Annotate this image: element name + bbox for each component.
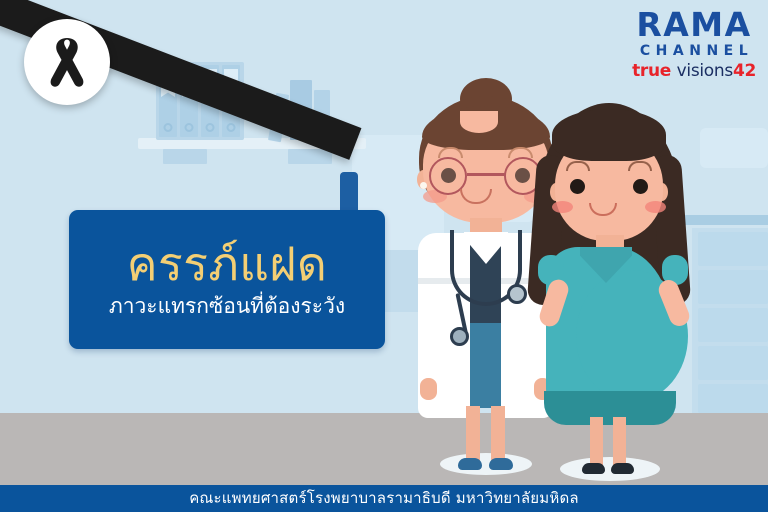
truevisions-number: 42 — [733, 61, 756, 81]
doctor-shoe-right — [489, 458, 513, 470]
logo-channel-text: CHANNEL — [632, 44, 756, 58]
doctor-floor-shadow — [440, 453, 532, 475]
footer-text: คณะแพทยศาสตร์โรงพยาบาลรามาธิบดี มหาวิทยา… — [189, 491, 579, 506]
doctor-shoe-left — [458, 458, 482, 470]
mom-floor-shadow — [560, 457, 660, 481]
cabinet-drawer — [698, 270, 768, 304]
mom-eyebrow-left — [566, 161, 590, 171]
shelf-bracket — [288, 149, 332, 164]
mom-blush-right — [645, 201, 666, 213]
mourning-ribbon-badge — [24, 19, 110, 105]
cabinet-drawer — [698, 384, 768, 413]
cabinet-drawer — [698, 346, 768, 380]
mom-fringe — [552, 109, 666, 161]
black-ribbon-icon — [44, 34, 90, 90]
truevisions-logo: true visions42 — [632, 63, 756, 80]
mom-dress-hem — [544, 391, 676, 425]
binder-ring-icon — [164, 123, 173, 132]
binder-ring-icon — [185, 123, 194, 132]
page-title: ครรภ์แฝด — [127, 240, 327, 288]
binder-ring-icon — [227, 123, 236, 132]
title-card: ครรภ์แฝด ภาวะแทรกซ้อนที่ต้องระวัง — [69, 210, 385, 349]
rama-channel-logo: RAMA CHANNEL true visions42 — [632, 8, 756, 80]
cabinet-drawer — [698, 232, 768, 266]
mom-eye-left — [570, 179, 585, 194]
doctor-leg-right — [491, 406, 505, 466]
truevisions-true: true — [632, 61, 671, 81]
page-subtitle: ภาวะแทรกซ้อนที่ต้องระวัง — [109, 294, 345, 319]
mom-shoe-right — [611, 463, 634, 474]
doctor-glasses-bridge — [467, 173, 505, 176]
logo-rama-text: RAMA — [632, 8, 756, 41]
doctor-hand-left — [420, 378, 437, 400]
poster-canvas: ครรภ์แฝด ภาวะแทรกซ้อนที่ต้องระวัง RAMA C… — [0, 0, 768, 512]
binder-ring-icon — [206, 123, 215, 132]
shelf-bracket — [163, 149, 207, 164]
footer-bar: คณะแพทยศาสตร์โรงพยาบาลรามาธิบดี มหาวิทยา… — [0, 485, 768, 512]
mom-eyebrow-right — [628, 161, 652, 171]
wall-panel — [700, 128, 768, 168]
pregnant-woman-character — [524, 95, 694, 465]
doctor-leg-left — [466, 406, 480, 466]
doctor-earring-left — [420, 182, 427, 189]
cabinet-drawer — [698, 308, 768, 342]
stethoscope-bell — [450, 327, 469, 346]
doctor-forehead — [460, 111, 498, 133]
mom-eye-right — [633, 179, 648, 194]
mom-shoe-left — [582, 463, 605, 474]
truevisions-visions: visions — [677, 61, 733, 81]
mom-blush-left — [552, 201, 573, 213]
